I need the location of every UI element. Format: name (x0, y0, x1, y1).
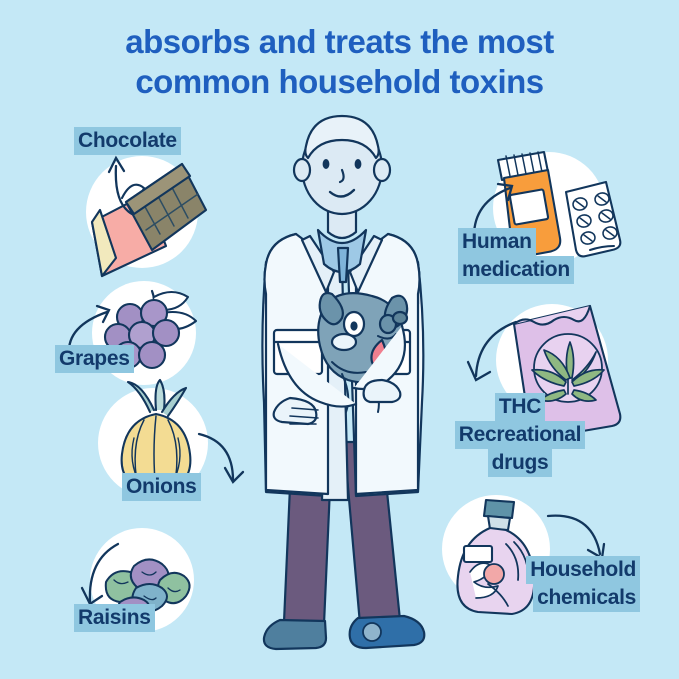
label-grapes-line-1: Grapes (55, 345, 134, 373)
label-human-medication: Human medication (458, 228, 574, 284)
label-raisins-line-1: Raisins (74, 604, 155, 632)
label-thc-line-1: THC (495, 393, 545, 421)
label-raisins: Raisins (74, 604, 155, 632)
raisins-arrow-icon (80, 540, 126, 612)
label-grapes: Grapes (55, 345, 134, 373)
label-chocolate: Chocolate (74, 127, 181, 155)
label-thc-line-3: drugs (488, 449, 553, 477)
veterinarian-holding-dog (232, 112, 452, 662)
onions-arrow-icon (195, 428, 247, 488)
label-thc-line-2: Recreational (455, 421, 585, 449)
chocolate-arrow-icon (92, 152, 142, 218)
label-onions-line-1: Onions (122, 473, 201, 501)
title-line-2: common household toxins (0, 62, 679, 102)
label-human-medication-line-1: Human (458, 228, 536, 256)
label-human-medication-line-2: medication (458, 256, 574, 284)
infographic-canvas: absorbs and treats the most common house… (0, 0, 679, 679)
label-household-chemicals: Household chemicals (440, 556, 640, 612)
page-title: absorbs and treats the most common house… (0, 22, 679, 102)
thc-arrow-icon (468, 318, 522, 384)
label-household-line-2: chemicals (533, 584, 640, 612)
label-onions: Onions (122, 473, 201, 501)
label-household-line-1: Household (526, 556, 640, 584)
title-line-1: absorbs and treats the most (0, 22, 679, 62)
label-chocolate-line-1: Chocolate (74, 127, 181, 155)
label-thc-recreational-drugs: THC Recreational drugs (440, 393, 600, 477)
